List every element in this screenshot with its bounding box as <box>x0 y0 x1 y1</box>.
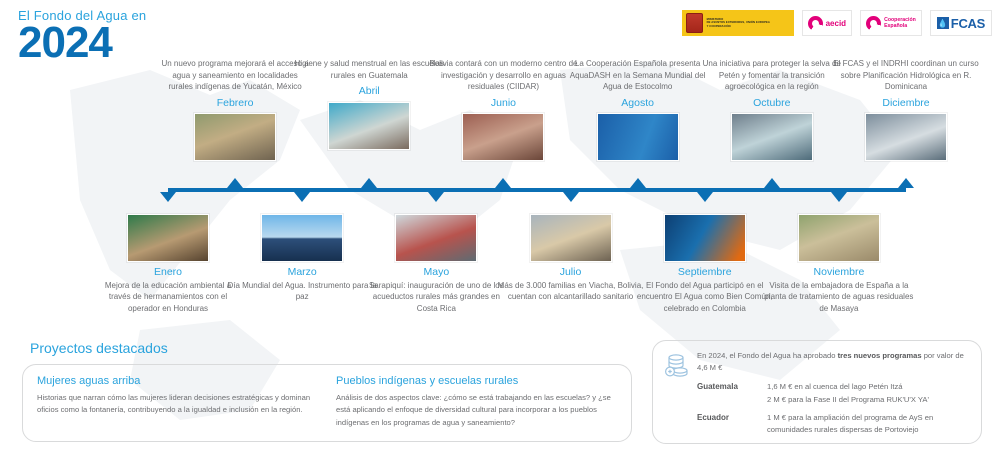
fcas-logo-label: FCAS <box>951 16 985 31</box>
aecid-logo-label: aecid <box>826 19 846 28</box>
aecid-c-icon <box>808 16 823 31</box>
timeline-item-caption: La Cooperación Española presenta AquaDAS… <box>563 58 713 93</box>
funding-lead-text: En 2024, el Fondo del Agua ha aprobado t… <box>697 350 969 374</box>
funding-country-detail: 1,6 M € en al cuenca del lago Petén Itzá… <box>767 381 929 406</box>
timeline-item-mayo[interactable]: MayoSarapiquí: inauguración de uno de lo… <box>361 211 511 314</box>
funding-lead-before: En 2024, el Fondo del Agua ha aprobado <box>697 351 838 360</box>
timeline-item-caption: Un nuevo programa mejorará el acceso a a… <box>160 58 310 93</box>
timeline-item-month: Septiembre <box>630 266 780 280</box>
el-agua-bien-comun-banner-photo <box>664 214 746 262</box>
gobierno-espana-logo-text: MINISTERIODE ASUNTOS EXTERIORES, UNIÓN E… <box>707 18 770 29</box>
stacked-coins-icon <box>663 350 689 434</box>
wastewater-plant-construction-photo <box>798 214 880 262</box>
timeline-item-marzo[interactable]: MarzoDía Mundial del Agua. Instrumento p… <box>227 211 377 303</box>
featured-section-title: Proyectos destacados <box>30 340 168 356</box>
timeline-item-abril[interactable]: Higiene y salud menstrual en las escuela… <box>294 58 444 150</box>
group-at-building-photo <box>395 214 477 262</box>
timeline-item-month: Diciembre <box>831 97 981 111</box>
funding-row-ecuador: Ecuador 1 M € para la ampliación del pro… <box>697 412 969 437</box>
timeline-item-month: Julio <box>496 266 646 280</box>
panel-event-photo <box>865 113 947 161</box>
official-ceremony-photo <box>462 113 544 161</box>
timeline-item-caption: Una iniciativa para proteger la selva de… <box>697 58 847 93</box>
aquadash-banner-photo <box>597 113 679 161</box>
featured-cards: Mujeres aguas arriba Historias que narra… <box>22 364 632 442</box>
fcas-logo: 💧 FCAS <box>930 10 992 36</box>
funding-row-guatemala: Guatemala 1,6 M € en al cuenca del lago … <box>697 381 969 406</box>
timeline-tick <box>697 192 713 202</box>
timeline-item-caption: El Fondo del Agua participó en el encuen… <box>630 280 780 315</box>
timeline-item-caption: Día Mundial del Agua. Instrumento para l… <box>227 280 377 303</box>
timeline-tick <box>831 192 847 202</box>
timeline-tick <box>294 192 310 202</box>
logo-bar: MINISTERIODE ASUNTOS EXTERIORES, UNIÓN E… <box>682 10 992 36</box>
funding-country-label: Guatemala <box>697 381 759 406</box>
featured-card-mujeres[interactable]: Mujeres aguas arriba Historias que narra… <box>37 375 318 431</box>
timeline-item-caption: El FCAS y el INDRHI coordinan un curso s… <box>831 58 981 93</box>
funding-detail-line: 1 M € para la ampliación del programa de… <box>767 412 933 424</box>
gobierno-espana-logo: MINISTERIODE ASUNTOS EXTERIORES, UNIÓN E… <box>682 10 794 36</box>
timeline-tick <box>227 178 243 188</box>
infographic-canvas: El Fondo del Agua en 2024 MINISTERIODE A… <box>0 0 1000 460</box>
funding-detail-line: comunidades rurales dispersas de Portovi… <box>767 424 933 436</box>
funding-detail-line: 1,6 M € en al cuenca del lago Petén Itzá <box>767 381 929 393</box>
timeline-tick <box>563 192 579 202</box>
conference-presentation-photo <box>731 113 813 161</box>
timeline-item-month: Abril <box>294 85 444 99</box>
timeline-item-septiembre[interactable]: SeptiembreEl Fondo del Agua participó en… <box>630 211 780 314</box>
featured-card-pueblos[interactable]: Pueblos indígenas y escuelas rurales Aná… <box>336 375 617 431</box>
timeline-item-agosto[interactable]: La Cooperación Española presenta AquaDAS… <box>563 58 713 161</box>
timeline-item-caption: Higiene y salud menstrual en las escuela… <box>294 58 444 81</box>
timeline-tick <box>361 178 377 188</box>
timeline-item-julio[interactable]: JulioMás de 3.000 familias en Viacha, Bo… <box>496 211 646 303</box>
timeline-item-month: Marzo <box>227 266 377 280</box>
timeline-tick <box>630 178 646 188</box>
timeline-item-month: Febrero <box>160 97 310 111</box>
field-visit-photo <box>530 214 612 262</box>
timeline-axis <box>168 188 906 192</box>
page-title: El Fondo del Agua en 2024 <box>18 8 318 65</box>
coat-of-arms-icon <box>686 13 703 33</box>
funding-summary-box: En 2024, el Fondo del Agua ha aprobado t… <box>652 340 982 444</box>
students-in-classroom-photo <box>328 102 410 150</box>
timeline-item-noviembre[interactable]: NoviembreVisita de la embajadora de Espa… <box>764 211 914 314</box>
timeline-item-month: Enero <box>93 266 243 280</box>
community-meeting-outdoors-photo <box>194 113 276 161</box>
funding-country-detail: 1 M € para la ampliación del programa de… <box>767 412 933 437</box>
timeline-item-caption: Sarapiquí: inauguración de uno de los ac… <box>361 280 511 315</box>
timeline-item-caption: Mejora de la educación ambiental a travé… <box>93 280 243 315</box>
timeline-item-month: Noviembre <box>764 266 914 280</box>
cooperacion-c-icon <box>866 16 881 31</box>
timeline-tick <box>764 178 780 188</box>
timeline-item-febrero[interactable]: Un nuevo programa mejorará el acceso a a… <box>160 58 310 161</box>
timeline-tick <box>428 192 444 202</box>
classroom-workshop-photo <box>127 214 209 262</box>
water-drop-icon: 💧 <box>937 17 949 29</box>
timeline-item-octubre[interactable]: Una iniciativa para proteger la selva de… <box>697 58 847 161</box>
timeline-tick <box>495 178 511 188</box>
featured-card-title: Mujeres aguas arriba <box>37 375 318 387</box>
featured-card-body: Historias que narran cómo las mujeres li… <box>37 392 318 417</box>
timeline-item-enero[interactable]: EneroMejora de la educación ambiental a … <box>93 211 243 314</box>
timeline-item-junio[interactable]: Bolivia contará con un moderno centro de… <box>428 58 578 161</box>
timeline-item-month: Agosto <box>563 97 713 111</box>
timeline-item-month: Mayo <box>361 266 511 280</box>
featured-card-title: Pueblos indígenas y escuelas rurales <box>336 375 617 387</box>
timeline-item-caption: Bolivia contará con un moderno centro de… <box>428 58 578 93</box>
lake-landscape-photo <box>261 214 343 262</box>
timeline-item-month: Junio <box>428 97 578 111</box>
featured-card-body: Análisis de dos aspectos clave: ¿cómo se… <box>336 392 617 429</box>
timeline-tick <box>160 192 176 202</box>
cooperacion-espanola-logo: CooperaciónEspañola <box>860 10 922 36</box>
timeline-item-caption: Visita de la embajadora de España a la p… <box>764 280 914 315</box>
funding-detail-line: 2 M € para la Fase II del Programa RUK'U… <box>767 394 929 406</box>
timeline-tick <box>898 178 914 188</box>
funding-lead-bold: tres nuevos programas <box>838 351 922 360</box>
timeline-item-month: Octubre <box>697 97 847 111</box>
funding-country-label: Ecuador <box>697 412 759 437</box>
aecid-logo: aecid <box>802 10 852 36</box>
timeline-item-diciembre[interactable]: El FCAS y el INDRHI coordinan un curso s… <box>831 58 981 161</box>
timeline-item-caption: Más de 3.000 familias en Viacha, Bolivia… <box>496 280 646 303</box>
cooperacion-espanola-logo-label: CooperaciónEspañola <box>884 17 916 30</box>
